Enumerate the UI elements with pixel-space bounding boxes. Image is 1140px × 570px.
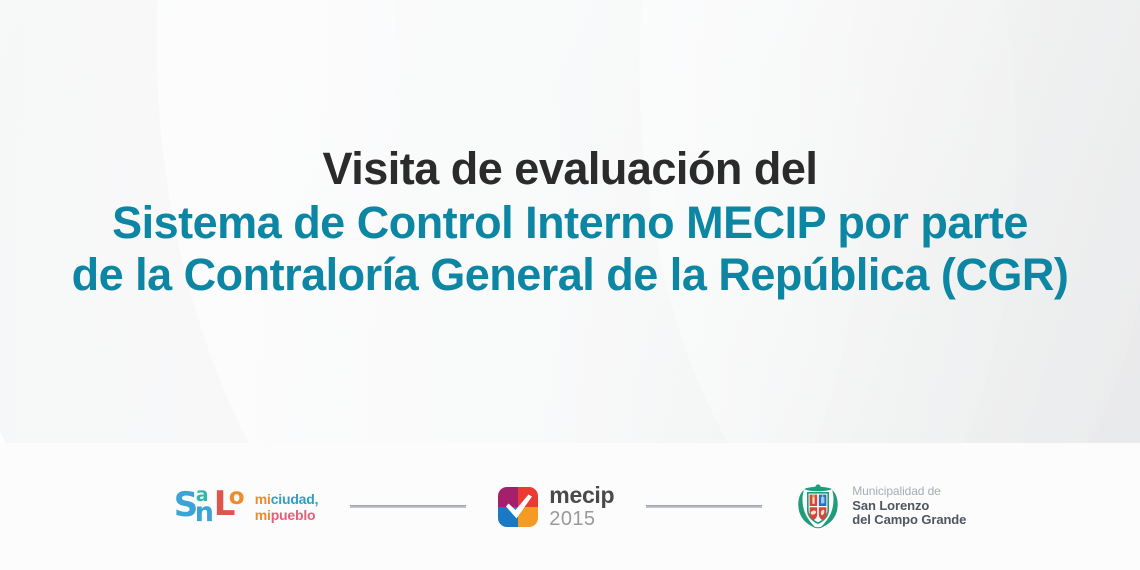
logo-divider-1 xyxy=(350,505,466,508)
sanlo-tagline-ciudad: ciudad, xyxy=(271,491,319,507)
municipalidad-name-line-2: del Campo Grande xyxy=(852,513,966,528)
mecip-name: mecip xyxy=(549,484,614,507)
checkmark-icon xyxy=(498,487,538,527)
municipalidad-prefix: Municipalidad de xyxy=(852,485,966,498)
sanlo-letter-n: n xyxy=(195,499,214,526)
presentation-slide: Visita de evaluación del Sistema de Cont… xyxy=(0,0,1140,570)
sanlo-tagline-line-2: mipueblo xyxy=(255,507,319,523)
sanlo-tagline-line-1: miciudad, xyxy=(255,491,319,507)
footer-logo-row: S a n L o miciudad, mipueblo xyxy=(174,483,967,531)
hero-banner: Visita de evaluación del Sistema de Cont… xyxy=(0,0,1140,443)
page-title: Visita de evaluación del Sistema de Cont… xyxy=(0,0,1140,443)
mecip-check-icon xyxy=(498,487,538,527)
sanlo-wordmark-icon: S a n L o xyxy=(174,486,246,528)
sanlo-logo: S a n L o miciudad, mipueblo xyxy=(174,486,319,528)
mecip-logo: mecip 2015 xyxy=(498,484,614,529)
sanlo-tagline-mi-2: mi xyxy=(255,507,271,523)
sanlo-letter-o: o xyxy=(229,486,245,509)
municipalidad-wordmark: Municipalidad de San Lorenzo del Campo G… xyxy=(852,485,966,528)
footer-logo-bar: S a n L o miciudad, mipueblo xyxy=(0,443,1140,570)
sanlo-tagline-pueblo: pueblo xyxy=(271,507,316,523)
mecip-year: 2015 xyxy=(549,509,614,529)
title-line-1: Visita de evaluación del xyxy=(323,143,818,195)
title-line-2: Sistema de Control Interno MECIP por par… xyxy=(112,197,1028,249)
title-line-3: de la Contraloría General de la Repúblic… xyxy=(72,249,1069,301)
sanlo-tagline: miciudad, mipueblo xyxy=(255,491,319,523)
mecip-wordmark: mecip 2015 xyxy=(549,484,614,529)
logo-divider-2 xyxy=(646,505,762,508)
sanlo-tagline-mi-1: mi xyxy=(255,491,271,507)
municipalidad-logo: Municipalidad de San Lorenzo del Campo G… xyxy=(794,483,966,531)
municipalidad-name-line-1: San Lorenzo xyxy=(852,499,966,514)
coat-of-arms-icon xyxy=(794,483,842,531)
